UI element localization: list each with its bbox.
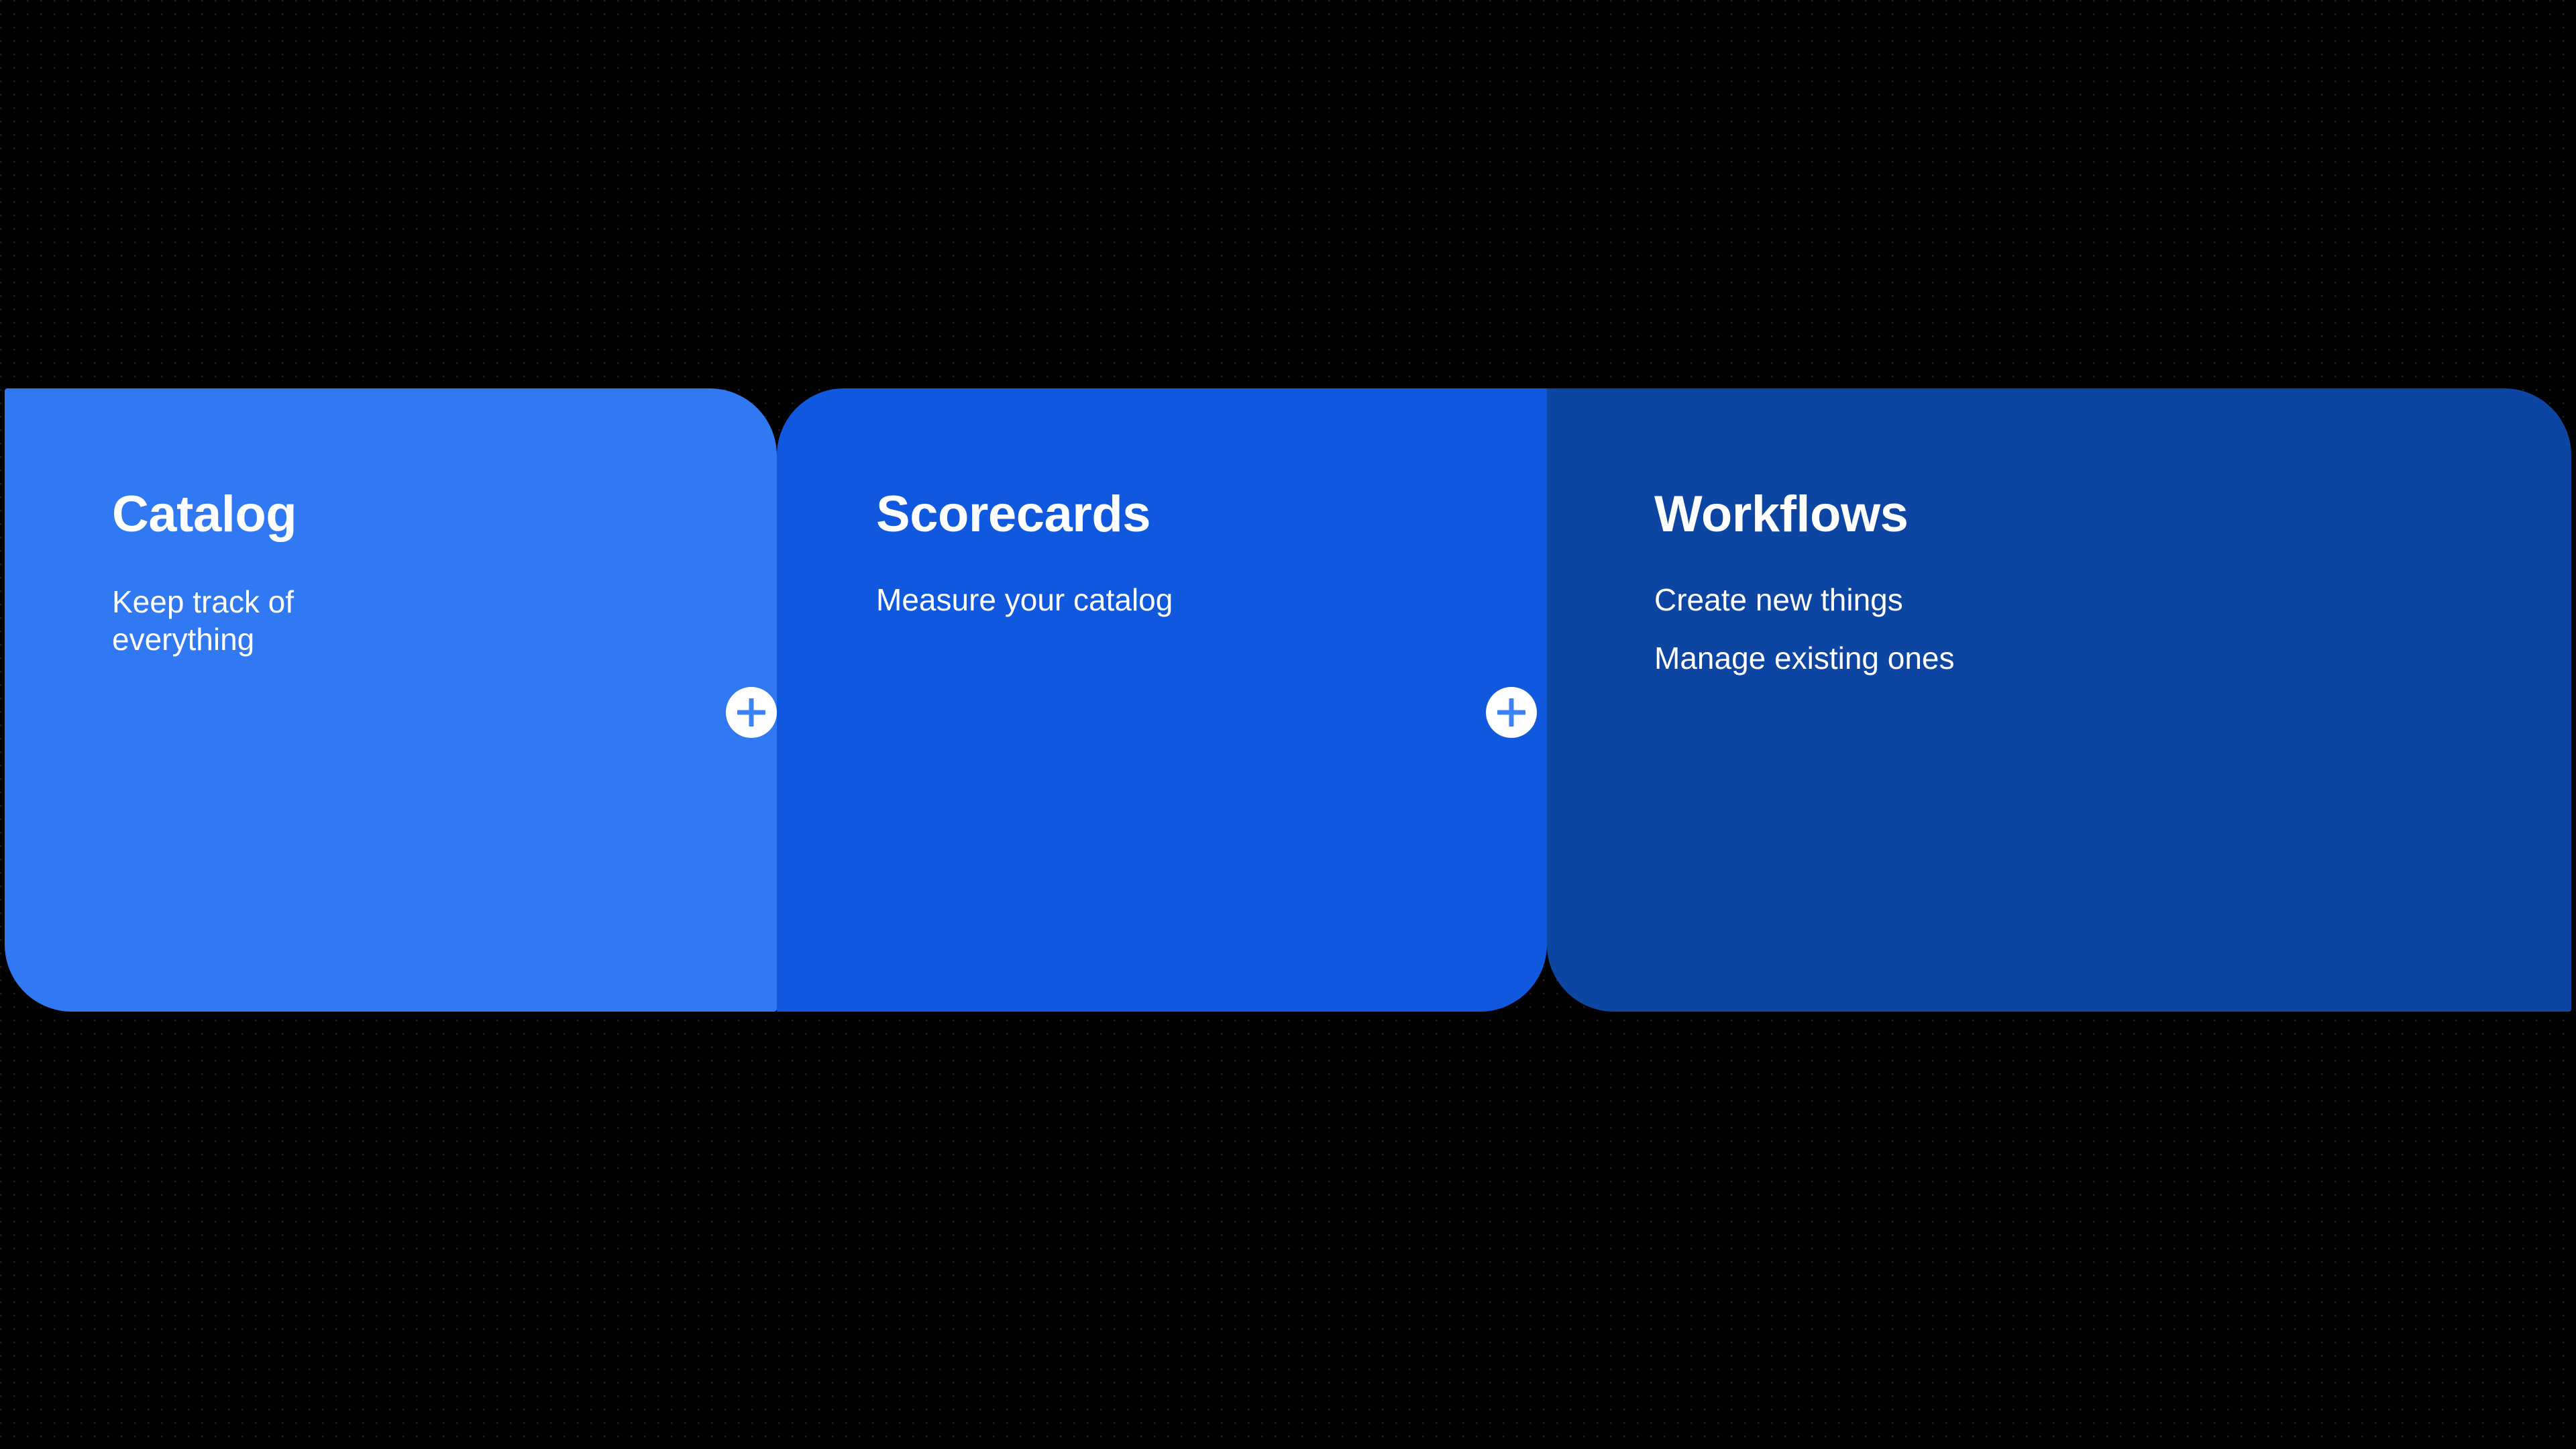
- stage-line: Create new things: [1654, 583, 2571, 617]
- stage-description-scorecards: Measure your catalog: [876, 583, 1547, 617]
- plus-icon: [1497, 698, 1525, 727]
- stage-title-workflows: Workflows: [1654, 489, 2571, 540]
- pipeline-stage-scorecards[interactable]: Scorecards Measure your catalog: [777, 388, 1547, 1012]
- stage-line: Measure your catalog: [876, 583, 1547, 617]
- stage-line: Keep track of everything: [112, 583, 400, 658]
- pipeline-stage-workflows[interactable]: Workflows Create new things Manage exist…: [1547, 388, 2571, 1012]
- stage-line: Manage existing ones: [1654, 641, 2571, 676]
- stage-description-workflows: Create new things Manage existing ones: [1654, 583, 2571, 675]
- pipeline-stage-catalog[interactable]: Catalog Keep track of everything: [5, 388, 777, 1012]
- stage-title-scorecards: Scorecards: [876, 489, 1547, 540]
- pipeline-connector-2[interactable]: [1486, 687, 1537, 738]
- pipeline-diagram: Catalog Keep track of everything Scoreca…: [5, 388, 2571, 1012]
- pipeline-connector-1[interactable]: [726, 687, 777, 738]
- plus-icon: [737, 698, 765, 727]
- stage-title-catalog: Catalog: [112, 489, 777, 540]
- stage-description-catalog: Keep track of everything: [112, 583, 400, 658]
